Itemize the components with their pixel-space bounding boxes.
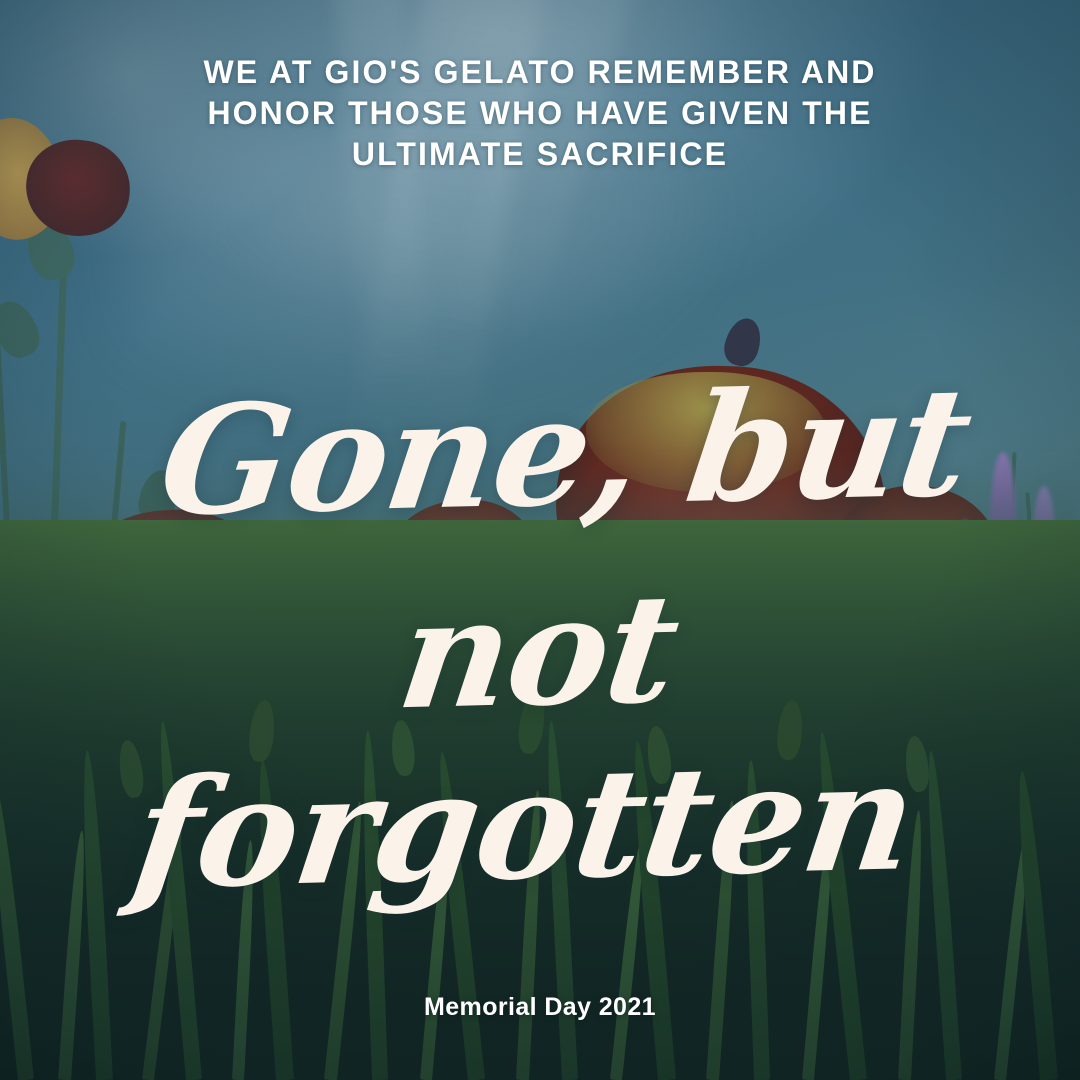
headline-line-2: HONOR THOSE WHO HAVE GIVEN THE: [0, 93, 1080, 134]
script-line-1: Gone, but not: [151, 354, 980, 743]
script-message: Gone, but not forgotten: [0, 339, 1080, 939]
headline-line-1: WE AT GIO'S GELATO REMEMBER AND: [0, 52, 1080, 93]
headline: WE AT GIO'S GELATO REMEMBER AND HONOR TH…: [0, 52, 1080, 175]
footer-caption: Memorial Day 2021: [0, 993, 1080, 1022]
headline-line-3: ULTIMATE SACRIFICE: [0, 134, 1080, 175]
memorial-day-poster: WE AT GIO'S GELATO REMEMBER AND HONOR TH…: [0, 0, 1080, 1080]
script-line-2: forgotten: [0, 713, 1070, 939]
